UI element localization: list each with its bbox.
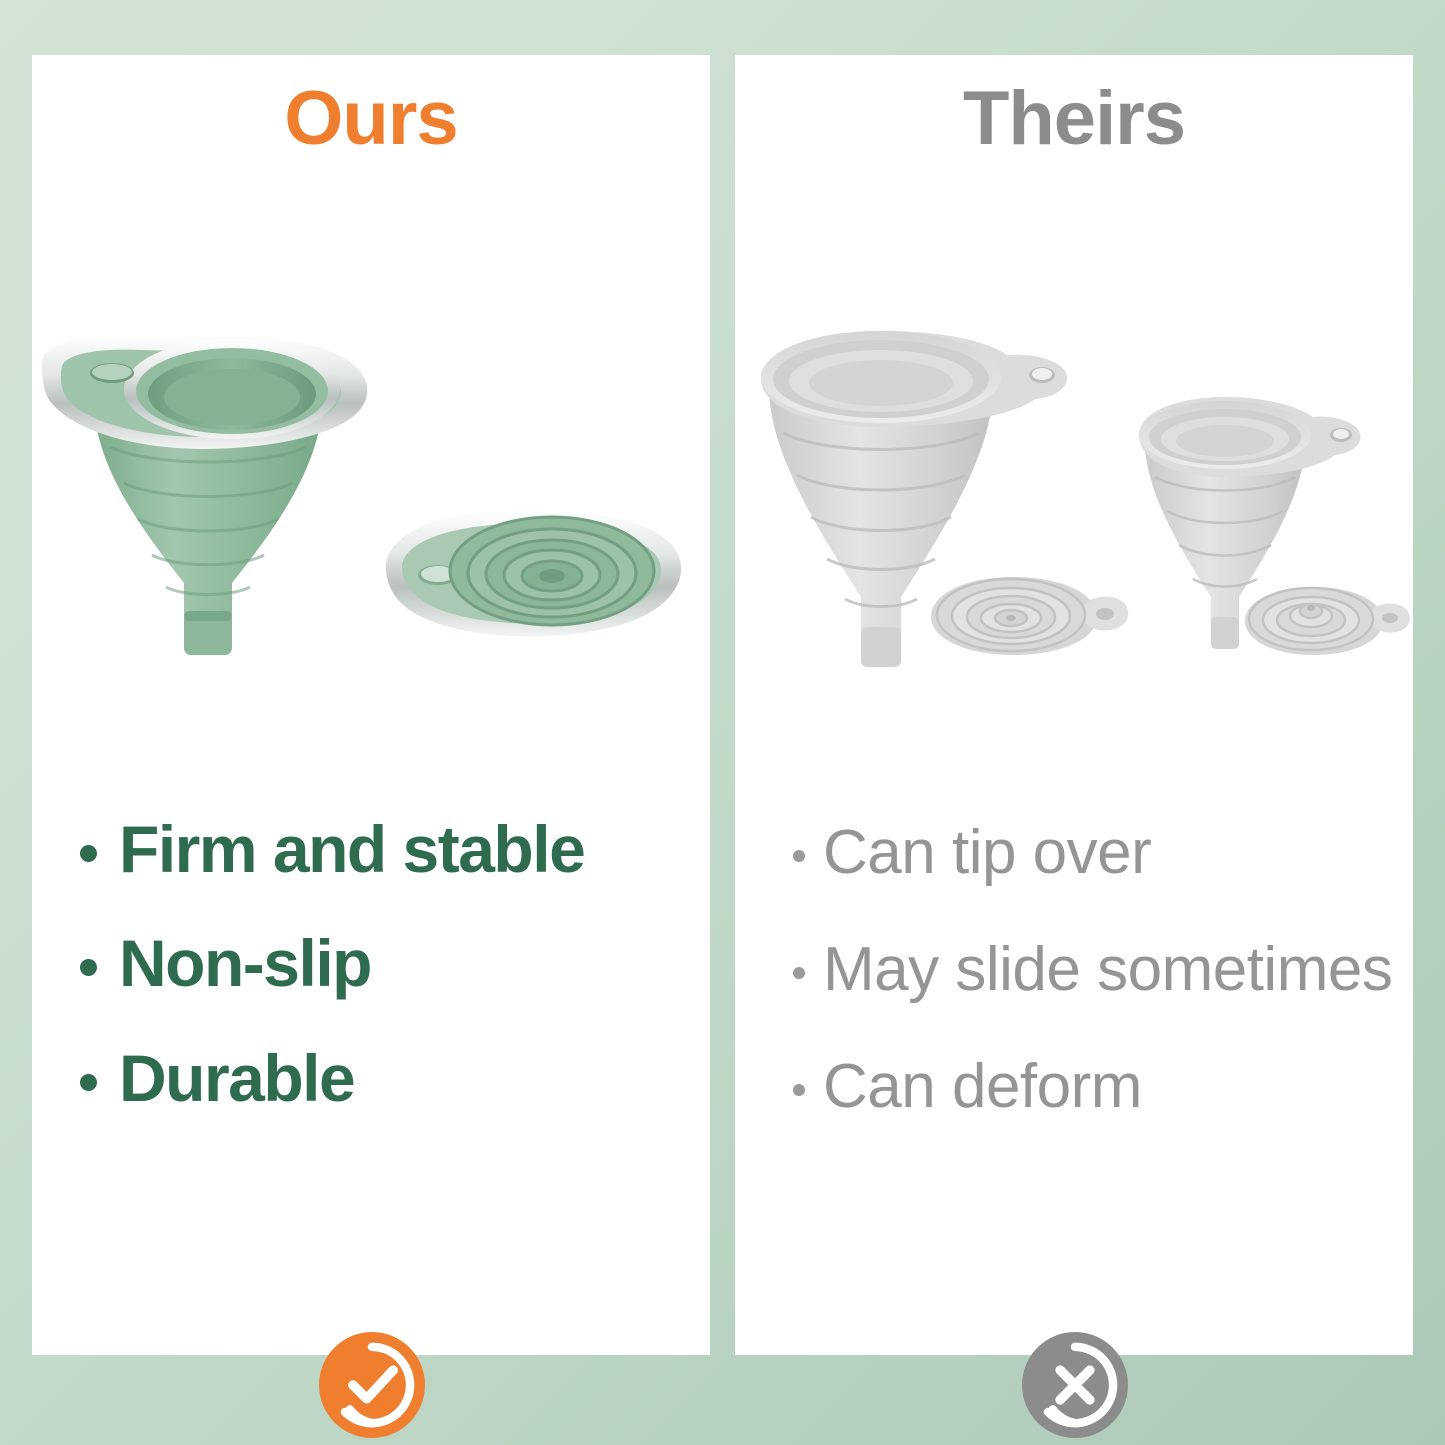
list-item: Can deform — [793, 1054, 1393, 1119]
comparison-infographic: Ours — [0, 0, 1445, 1445]
list-item-label: Can deform — [823, 1054, 1142, 1119]
bullet-dot-icon — [80, 1074, 97, 1091]
funnel-expanded-green — [42, 335, 367, 655]
list-item-label: Durable — [119, 1044, 354, 1113]
comparison-card-theirs: Theirs — [735, 55, 1413, 1355]
bullet-dot-icon — [793, 1084, 805, 1096]
list-item-label: Non-slip — [119, 929, 371, 998]
x-circle-icon — [1022, 1332, 1128, 1438]
product-image-ours — [32, 315, 710, 775]
list-item-label: May slide sometimes — [823, 937, 1392, 1002]
list-item-label: Firm and stable — [119, 815, 584, 884]
feature-list-theirs: Can tip over May slide sometimes Can def… — [793, 820, 1393, 1171]
list-item: Can tip over — [793, 820, 1393, 885]
list-item: Non-slip — [80, 929, 690, 998]
funnel-collapsed-gray-tiny — [1245, 587, 1410, 655]
list-item-label: Can tip over — [823, 820, 1151, 885]
funnel-collapsed-gray-small — [931, 577, 1128, 655]
bullet-dot-icon — [80, 959, 97, 976]
bullet-dot-icon — [80, 845, 97, 862]
check-circle-icon — [319, 1332, 425, 1438]
comparison-card-ours: Ours — [32, 55, 710, 1355]
list-item: Durable — [80, 1044, 690, 1113]
funnel-collapsed-green — [386, 510, 681, 637]
bullet-dot-icon — [793, 967, 805, 979]
list-item: Firm and stable — [80, 815, 690, 884]
list-item: May slide sometimes — [793, 937, 1393, 1002]
bullet-dot-icon — [793, 850, 805, 862]
product-image-theirs — [735, 315, 1413, 775]
page-title-theirs: Theirs — [735, 81, 1413, 157]
feature-list-ours: Firm and stable Non-slip Durable — [80, 815, 690, 1158]
page-title-ours: Ours — [32, 81, 710, 157]
